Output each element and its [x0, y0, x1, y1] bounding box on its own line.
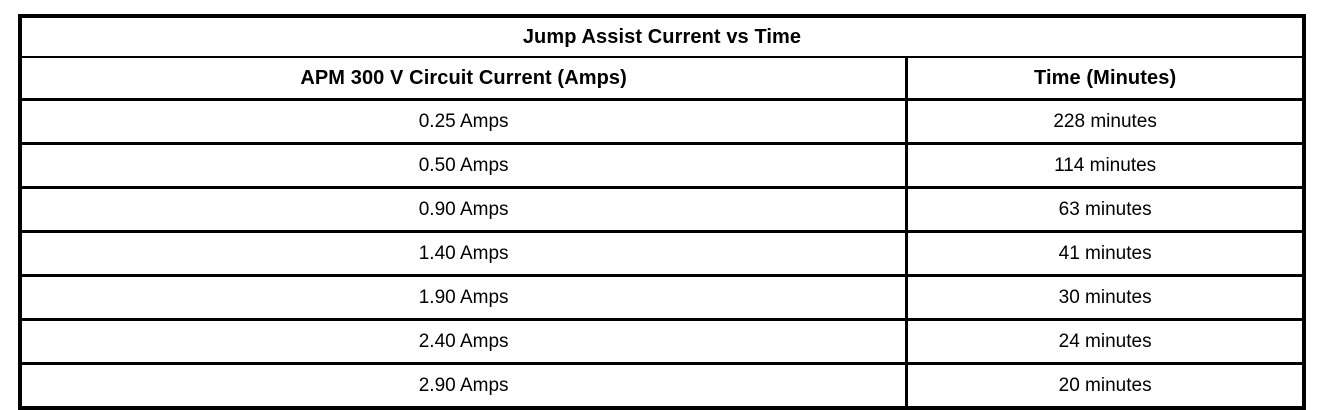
table-body: Jump Assist Current vs Time APM 300 V Ci… — [20, 16, 1304, 408]
cell-time: 24 minutes — [907, 320, 1304, 364]
table-row: 1.40 Amps 41 minutes — [20, 232, 1304, 276]
cell-time: 20 minutes — [907, 364, 1304, 409]
cell-time: 228 minutes — [907, 100, 1304, 144]
cell-current: 1.90 Amps — [20, 276, 907, 320]
table-container: Jump Assist Current vs Time APM 300 V Ci… — [18, 14, 1306, 385]
cell-current: 1.40 Amps — [20, 232, 907, 276]
table-row: 0.90 Amps 63 minutes — [20, 188, 1304, 232]
table-title: Jump Assist Current vs Time — [20, 16, 1304, 57]
column-header-current: APM 300 V Circuit Current (Amps) — [20, 57, 907, 100]
cell-current: 2.40 Amps — [20, 320, 907, 364]
column-header-time: Time (Minutes) — [907, 57, 1304, 100]
table-title-row: Jump Assist Current vs Time — [20, 16, 1304, 57]
table-row: 1.90 Amps 30 minutes — [20, 276, 1304, 320]
cell-current: 2.90 Amps — [20, 364, 907, 409]
cell-current: 0.25 Amps — [20, 100, 907, 144]
cell-time: 63 minutes — [907, 188, 1304, 232]
cell-current: 0.50 Amps — [20, 144, 907, 188]
table-row: 2.90 Amps 20 minutes — [20, 364, 1304, 409]
cell-time: 114 minutes — [907, 144, 1304, 188]
table-header-row: APM 300 V Circuit Current (Amps) Time (M… — [20, 57, 1304, 100]
cell-time: 41 minutes — [907, 232, 1304, 276]
cell-current: 0.90 Amps — [20, 188, 907, 232]
table-row: 0.25 Amps 228 minutes — [20, 100, 1304, 144]
cell-time: 30 minutes — [907, 276, 1304, 320]
jump-assist-current-vs-time-table: Jump Assist Current vs Time APM 300 V Ci… — [18, 14, 1306, 410]
table-row: 2.40 Amps 24 minutes — [20, 320, 1304, 364]
table-row: 0.50 Amps 114 minutes — [20, 144, 1304, 188]
